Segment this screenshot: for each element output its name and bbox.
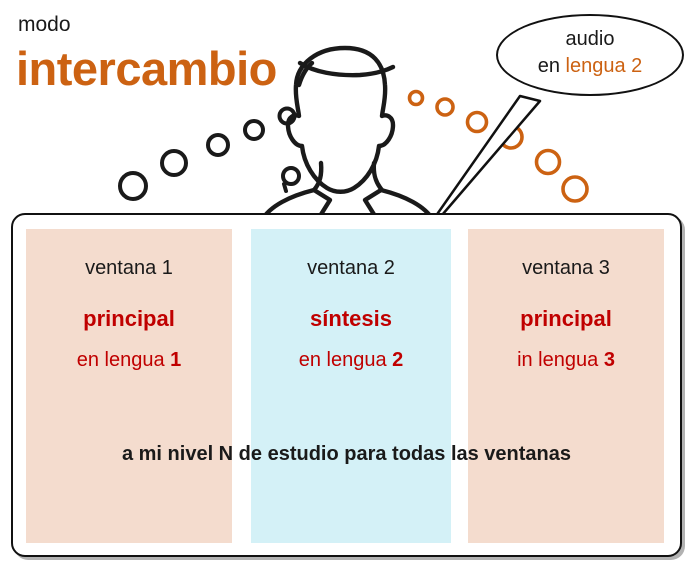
page-title: intercambio	[16, 41, 277, 96]
bubble-line-1: audio	[496, 26, 684, 53]
window-kind: principal	[26, 306, 232, 332]
window-language: en lengua 2	[251, 349, 451, 372]
black-bubble-icon	[162, 151, 186, 175]
window-kind: principal	[468, 306, 664, 332]
orange-bubble-icon	[563, 177, 587, 201]
black-bubble-icon	[283, 168, 299, 184]
bubble-line-2: en lengua 2	[496, 53, 684, 80]
window-kind: síntesis	[251, 306, 451, 332]
orange-bubble-icon	[410, 92, 423, 105]
panel-footer-note: a mi nivel N de estudio para todas las v…	[11, 443, 682, 466]
window-label: ventana 3	[468, 257, 664, 280]
window-column-ventana-2[interactable]: ventana 2 síntesis en lengua 2	[251, 229, 451, 543]
window-column-ventana-1[interactable]: ventana 1 principal en lengua 1	[26, 229, 232, 543]
diagram-canvas: modo intercambio	[0, 0, 695, 571]
window-language-number: 1	[170, 349, 181, 371]
window-language-prefix: in lengua	[517, 349, 604, 371]
black-bubble-icon	[208, 135, 228, 155]
orange-bubble-icon	[468, 113, 487, 132]
orange-bubble-icon	[537, 151, 560, 174]
black-bubble-icon	[120, 173, 146, 199]
audio-speech-bubble-text: audio en lengua 2	[496, 26, 684, 80]
window-column-ventana-3[interactable]: ventana 3 principal in lengua 3	[468, 229, 664, 543]
orange-bubble-group	[410, 92, 588, 202]
bubble-line-2-accent: lengua 2	[566, 55, 643, 77]
window-language: en lengua 1	[26, 349, 232, 372]
orange-bubble-icon	[437, 99, 453, 115]
black-bubble-icon	[245, 121, 263, 139]
black-bubble-group	[120, 109, 299, 200]
black-bubble-icon	[280, 109, 295, 124]
window-label: ventana 1	[26, 257, 232, 280]
window-label: ventana 2	[251, 257, 451, 280]
window-language-prefix: en lengua	[299, 349, 392, 371]
orange-bubble-icon	[500, 126, 522, 148]
window-language-prefix: en lengua	[77, 349, 170, 371]
bubble-line-2-prefix: en	[538, 55, 566, 77]
window-language-number: 2	[392, 349, 403, 371]
window-language-number: 3	[604, 349, 615, 371]
window-language: in lengua 3	[468, 349, 664, 372]
header-eyebrow: modo	[18, 13, 71, 37]
